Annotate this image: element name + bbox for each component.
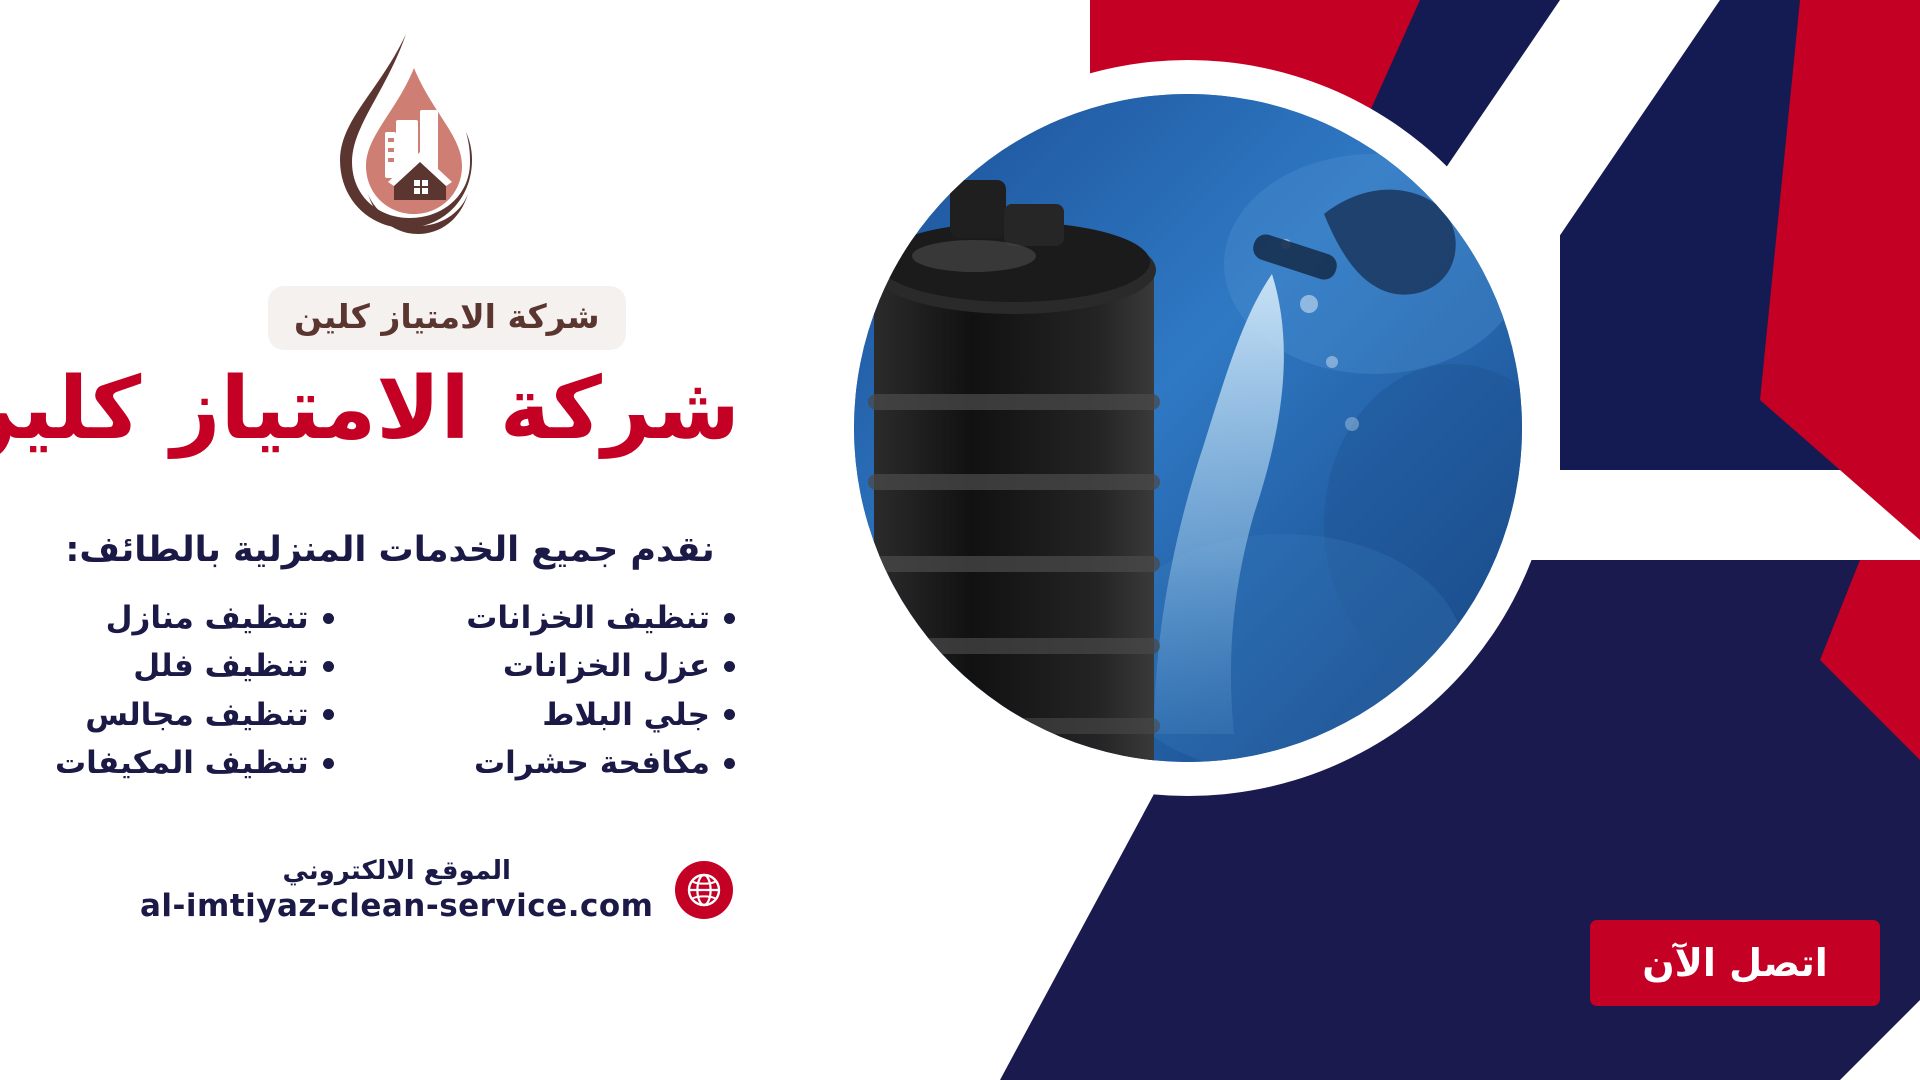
- bullet-icon: [724, 661, 735, 672]
- services-column-left: تنظيف الخزانات عزل الخزانات جلي البلاط م…: [466, 598, 735, 783]
- brand-name-badge: شركة الامتياز كلين: [268, 286, 626, 350]
- list-item: تنظيف المكيفات: [55, 743, 334, 783]
- bullet-icon: [323, 613, 334, 624]
- list-item: تنظيف مجالس: [85, 695, 334, 735]
- bullet-icon: [323, 758, 334, 769]
- service-label: مكافحة حشرات: [474, 743, 710, 783]
- globe-icon: [675, 861, 733, 919]
- service-label: عزل الخزانات: [503, 646, 710, 686]
- list-item: تنظيف فلل: [133, 646, 333, 686]
- tank-cap: [950, 180, 1006, 238]
- service-label: جلي البلاط: [542, 695, 710, 735]
- website-label: الموقع الالكتروني: [283, 856, 511, 886]
- red-shape-bottom-right: [1820, 560, 1920, 760]
- bullet-icon: [724, 758, 735, 769]
- service-label: تنظيف مجالس: [85, 695, 309, 735]
- bullet-icon: [724, 709, 735, 720]
- red-shape-right: [1760, 0, 1920, 540]
- bullet-icon: [724, 613, 735, 624]
- bullet-icon: [323, 709, 334, 720]
- company-logo: [310, 28, 490, 248]
- call-now-button[interactable]: اتصل الآن: [1590, 920, 1880, 1006]
- website-url[interactable]: al-imtiyaz-clean-service.com: [140, 888, 653, 924]
- water-tank: [868, 180, 1160, 762]
- white-strip-bottom-right: [1840, 1000, 1920, 1080]
- list-item: مكافحة حشرات: [474, 743, 735, 783]
- service-label: تنظيف المكيفات: [55, 743, 309, 783]
- list-item: عزل الخزانات: [503, 646, 735, 686]
- service-label: تنظيف الخزانات: [466, 598, 710, 638]
- list-item: جلي البلاط: [542, 695, 735, 735]
- services-column-right: تنظيف منازل تنظيف فلل تنظيف مجالس تنظيف …: [55, 598, 334, 783]
- subtitle: نقدم جميع الخدمات المنزلية بالطائف:: [40, 530, 740, 570]
- services-lists: تنظيف الخزانات عزل الخزانات جلي البلاط م…: [55, 598, 735, 783]
- hero-photo: [854, 94, 1522, 762]
- service-label: تنظيف فلل: [133, 646, 308, 686]
- website-texts: الموقع الالكتروني al-imtiyaz-clean-servi…: [140, 856, 653, 924]
- navy-shape-top-right: [1560, 0, 1920, 470]
- list-item: تنظيف الخزانات: [466, 598, 735, 638]
- service-label: تنظيف منازل: [106, 598, 309, 638]
- hero-photo-frame: [838, 78, 1538, 778]
- list-item: تنظيف منازل: [106, 598, 334, 638]
- website-block[interactable]: الموقع الالكتروني al-imtiyaz-clean-servi…: [140, 856, 733, 924]
- poster-canvas: شركة الامتياز كلين شركة الامتياز كلين نق…: [0, 0, 1920, 1080]
- bullet-icon: [323, 661, 334, 672]
- page-title: شركة الامتياز كلين: [40, 366, 740, 454]
